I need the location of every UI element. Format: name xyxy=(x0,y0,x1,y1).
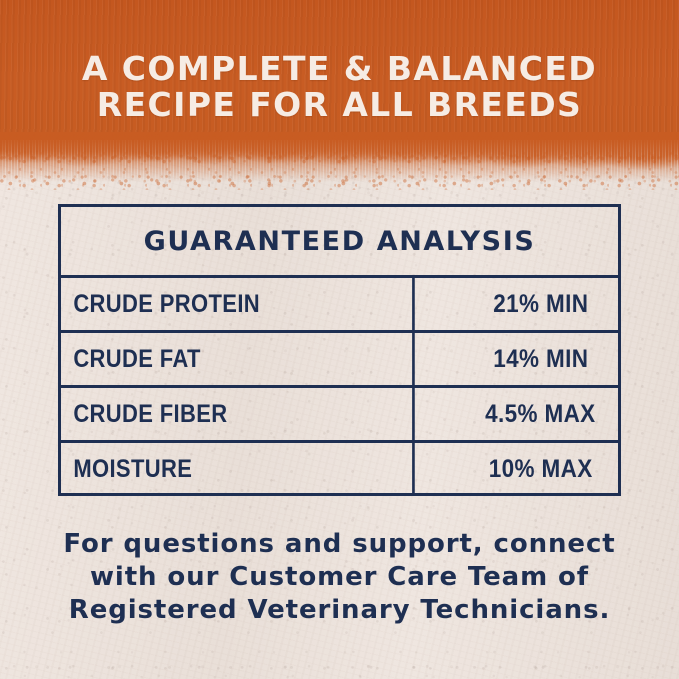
table-row: MOISTURE 10% MAX xyxy=(61,443,618,495)
nutrient-value-text: 10% MAX xyxy=(489,455,593,484)
nutrient-label: CRUDE PROTEIN xyxy=(61,278,415,330)
nutrient-value-text: 14% MIN xyxy=(493,345,588,374)
table-header-row: GUARANTEED ANALYSIS xyxy=(61,207,618,278)
header-band-speckle xyxy=(0,128,679,190)
page-title: A COMPLETE & BALANCED RECIPE FOR ALL BRE… xyxy=(0,51,679,123)
nutrient-value: 14% MIN xyxy=(463,333,618,385)
nutrient-label: CRUDE FIBER xyxy=(61,388,415,440)
table-title: GUARANTEED ANALYSIS xyxy=(144,226,536,257)
guaranteed-analysis-table: GUARANTEED ANALYSIS CRUDE PROTEIN 21% MI… xyxy=(58,204,621,496)
product-info-panel: A COMPLETE & BALANCED RECIPE FOR ALL BRE… xyxy=(0,0,679,679)
table-row: CRUDE FAT 14% MIN xyxy=(61,333,618,388)
page-title-line-2: RECIPE FOR ALL BREEDS xyxy=(0,87,679,123)
nutrient-value: 4.5% MAX xyxy=(463,388,618,440)
page-title-line-1: A COMPLETE & BALANCED xyxy=(0,51,679,87)
support-note-line-3: Registered Veterinary Technicians. xyxy=(0,594,679,627)
table-row: CRUDE FIBER 4.5% MAX xyxy=(61,388,618,443)
nutrient-label: CRUDE FAT xyxy=(61,333,415,385)
support-note-line-2: with our Customer Care Team of xyxy=(0,561,679,594)
nutrient-value: 10% MAX xyxy=(463,443,618,495)
support-note: For questions and support, connect with … xyxy=(0,528,679,627)
nutrient-value: 21% MIN xyxy=(463,278,618,330)
table-row: CRUDE PROTEIN 21% MIN xyxy=(61,278,618,333)
support-note-line-1: For questions and support, connect xyxy=(0,528,679,561)
nutrient-value-text: 4.5% MAX xyxy=(485,400,595,429)
nutrient-value-text: 21% MIN xyxy=(493,290,588,319)
nutrient-label: MOISTURE xyxy=(61,443,415,495)
